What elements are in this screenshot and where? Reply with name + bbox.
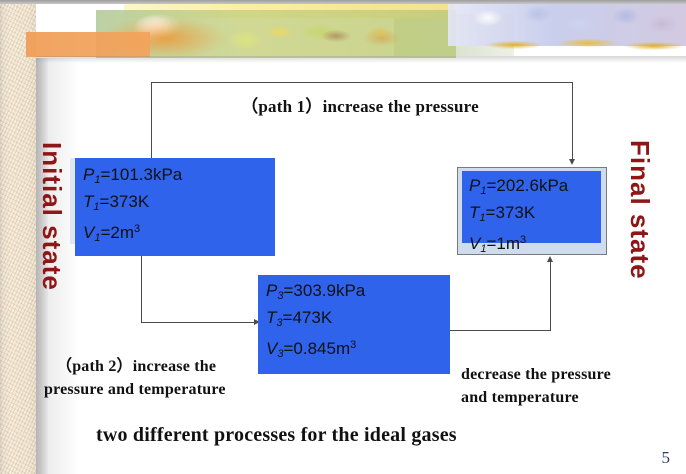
final-temperature-row: T1=373K (469, 202, 601, 229)
initial-volume-row: V1=2m3 (83, 218, 275, 249)
final-volume-value: 1m (496, 234, 520, 253)
path1-caption: （path 1）increase the pressure (150, 92, 570, 117)
path2-caption: （path 2）increase the pressure and temper… (56, 355, 306, 401)
final-state-box[interactable]: P1=202.6kPa T1=373K V1=1m3 (462, 171, 601, 243)
path3-connector-up (550, 262, 551, 330)
decrease-caption: decrease the pressure and temperature (461, 363, 681, 409)
path2-connector-across (141, 322, 255, 323)
intermediate-temperature-value: 473K (292, 308, 332, 327)
intermediate-volume-exponent: 3 (350, 339, 356, 351)
slide-background (36, 58, 686, 474)
initial-temperature-subscript: 1 (93, 201, 99, 213)
intermediate-pressure-value: 303.9kPa (293, 281, 365, 300)
final-temperature-subscript: 1 (479, 212, 485, 224)
path3-connector-across (450, 330, 551, 331)
banner-bottom-shadow (36, 56, 686, 63)
intermediate-pressure-subscript: 3 (277, 290, 283, 302)
final-volume-subscript: 1 (480, 243, 486, 255)
banner-fish-image (240, 20, 430, 52)
initial-volume-value: 2m (110, 223, 134, 242)
initial-temperature-row: T1=373K (83, 191, 275, 218)
initial-volume-exponent: 3 (134, 223, 140, 235)
decrease-caption-line1: decrease the pressure (461, 366, 611, 383)
decrease-caption-line2: and temperature (461, 389, 579, 406)
banner-wheat-image (468, 34, 686, 56)
final-pressure-value: 202.6kPa (496, 176, 568, 195)
initial-volume-subscript: 1 (94, 232, 100, 244)
intermediate-temperature-subscript: 3 (276, 317, 282, 329)
path2-connector-down (141, 256, 142, 322)
path2-caption-line1: （path 2）increase the (56, 358, 216, 375)
initial-state-box[interactable]: P1=101.3kPa T1=373K V1=2m3 (75, 158, 275, 256)
final-temperature-value: 373K (495, 203, 535, 222)
decorative-banner (0, 0, 686, 58)
slide-canvas: Initial state Final state （path 1）increa… (0, 0, 686, 474)
initial-pressure-subscript: 1 (94, 174, 100, 186)
banner-orange-rectangle (26, 32, 150, 57)
final-volume-exponent: 3 (520, 234, 526, 246)
initial-pressure-row: P1=101.3kPa (83, 164, 275, 191)
initial-pressure-value: 101.3kPa (110, 165, 182, 184)
initial-temperature-value: 373K (109, 192, 149, 211)
final-state-label: Final state (624, 140, 655, 280)
page-number: 5 (662, 448, 671, 468)
path1-connector-down (572, 82, 573, 160)
slide-title: two different processes for the ideal ga… (96, 424, 616, 447)
initial-state-label: Initial state (36, 142, 67, 291)
final-pressure-subscript: 1 (480, 185, 486, 197)
intermediate-pressure-row: P3=303.9kPa (266, 280, 450, 307)
path1-connector-across (151, 82, 573, 83)
path1-arrowhead-icon (569, 159, 575, 165)
decorative-left-column (0, 0, 36, 474)
intermediate-temperature-row: T3=473K (266, 307, 450, 334)
final-pressure-row: P1=202.6kPa (469, 175, 601, 202)
path2-caption-line2: pressure and temperature (44, 378, 306, 401)
final-volume-row: V1=1m3 (469, 229, 601, 260)
